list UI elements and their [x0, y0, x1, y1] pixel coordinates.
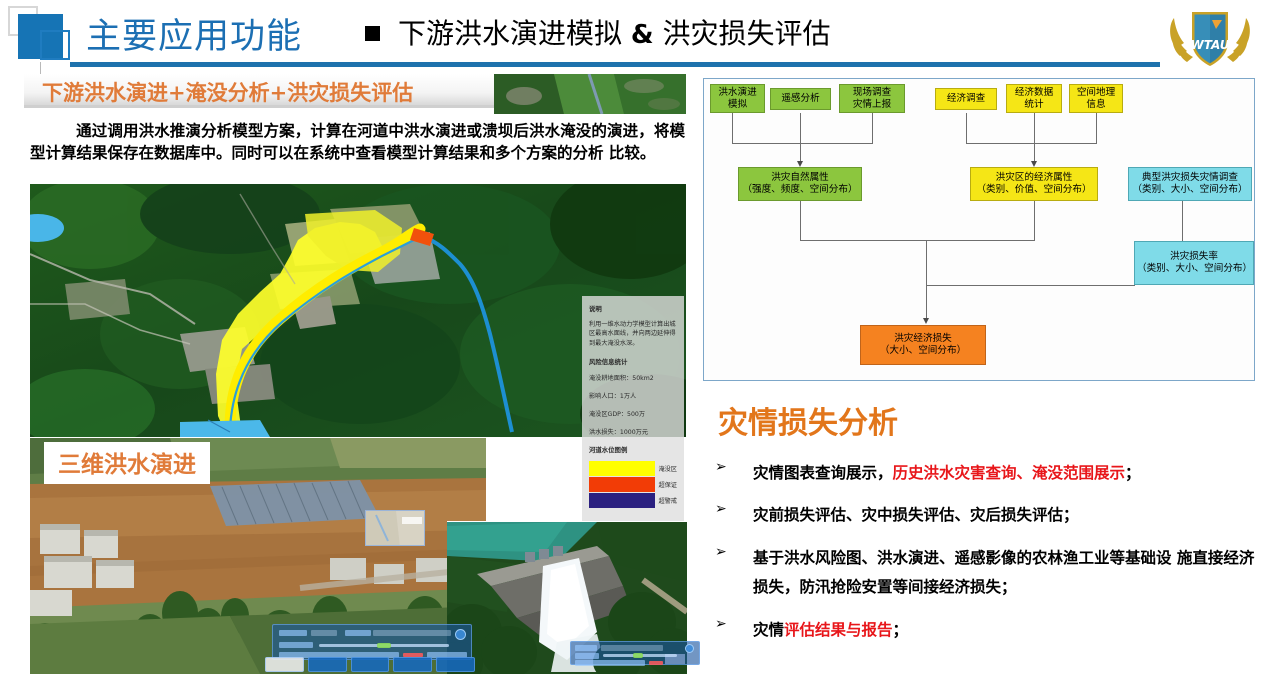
flow-box-r2-2-label: 典型洪灾损失灾情调查（类别、大小、空间分布）	[1132, 172, 1247, 196]
bullet-3-plain: 灾情	[753, 620, 784, 639]
info-stat-2: 淹没区GDP：500万	[589, 409, 677, 418]
bullet-arrow-icon-1: ➢	[715, 500, 753, 529]
flow-box-r1-0-label: 洪水演进模拟	[718, 87, 756, 111]
toolbar-button-3[interactable]	[393, 657, 432, 672]
bullet-0-suffix: ；	[1125, 463, 1141, 482]
bullet-2-plain: 基于洪水风险图、洪水演进、遥感影像的农林渔工业等基础设 施直接经济损失，防汛抢险…	[753, 548, 1254, 596]
connector-v-r1-0	[732, 113, 733, 143]
page-subtitle: 下游洪水演进模拟 & 洪灾损失评估	[398, 12, 831, 52]
secondary-control-panel[interactable]	[570, 641, 700, 665]
intro-paragraph-text: 通过调用洪水推演分析模型方案，计算在河道中洪水演进或溃坝后洪水淹没的演进，将模型…	[30, 121, 685, 162]
connector-v-yellow-drop	[1034, 143, 1035, 163]
bullet-arrow-icon-2: ➢	[715, 543, 753, 602]
connector-v-junction-down	[926, 240, 927, 320]
bullet-1-plain: 灾前损失评估、灾中损失评估、灾后损失评估；	[753, 505, 1079, 524]
wtau-logo: WTAU	[1162, 2, 1258, 72]
legend-item-2: 超警戒	[589, 493, 677, 508]
bullet-arrow-icon-0: ➢	[715, 458, 753, 487]
section-banner-thumbnail	[494, 74, 686, 114]
flow-box-r1-2-label: 现场调查灾情上报	[853, 87, 891, 111]
flow-box-r3-0-label: 洪灾损失率（类别、大小、空间分布）	[1137, 251, 1251, 275]
secondary-field-value[interactable]	[601, 645, 663, 651]
flow-box-r1-1: 遥感分析	[770, 88, 831, 110]
list-item: ➢ 灾情评估结果与报告；	[715, 615, 1255, 644]
control-field-value-2[interactable]	[373, 630, 451, 636]
connector-h-cyan-to-junction	[926, 285, 1135, 286]
bullet-0-plain: 灾情图表查询展示，	[753, 463, 893, 482]
arrow-to-final	[923, 318, 929, 324]
timeline-slider-thumb[interactable]	[377, 643, 391, 648]
section-title-banner: 下游洪水演进+淹没分析+洪灾损失评估	[24, 74, 494, 108]
bullet-arrow-icon-3: ➢	[715, 615, 753, 644]
legend-swatch-1	[589, 477, 655, 492]
intro-paragraph: 通过调用洪水推演分析模型方案，计算在河道中洪水演进或溃坝后洪水淹没的演进，将模型…	[30, 120, 685, 165]
connector-v-r1-2	[872, 113, 873, 143]
flow-box-r1-2: 现场调查灾情上报	[839, 84, 905, 113]
flow-box-r2-2: 典型洪灾损失灾情调查（类别、大小、空间分布）	[1128, 167, 1252, 201]
bullet-0-highlight: 历史洪水灾害查询、淹没范围展示	[893, 463, 1126, 482]
control-field-value-1[interactable]	[311, 630, 337, 636]
mini-map-overview	[365, 510, 425, 546]
refresh-icon-button[interactable]	[455, 629, 466, 640]
flood-3d-label: 三维洪水演进	[44, 442, 210, 484]
control-field-label-1	[279, 630, 307, 636]
secondary-slider-thumb[interactable]	[633, 653, 643, 658]
legend-swatch-2	[589, 493, 655, 508]
toolbar-button-2[interactable]	[351, 657, 390, 672]
secondary-status-alert	[649, 661, 663, 665]
bullet-3-suffix: ；	[893, 620, 909, 639]
info-stat-3: 洪水损失：1000万元	[589, 427, 677, 436]
list-item: ➢ 灾情图表查询展示，历史洪水灾害查询、淹没范围展示；	[715, 458, 1255, 487]
page-subtitle-part1: 下游洪水演进模拟	[398, 17, 622, 50]
toolbar-button-1[interactable]	[308, 657, 347, 672]
bullet-text-3: 灾情评估结果与报告；	[753, 615, 908, 644]
info-stat-1: 影响人口：1万人	[589, 391, 677, 400]
secondary-playback-buttons[interactable]	[575, 653, 599, 659]
page-header: 主要应用功能 下游洪水演进模拟 & 洪灾损失评估 WTAU	[0, 0, 1268, 72]
legend-item-0: 淹没区	[589, 461, 677, 476]
page-title: 主要应用功能	[86, 8, 302, 59]
info-panel-stats-heading: 风险信息统计	[589, 357, 677, 366]
info-panel-body: 利用一维水动力学模型计算出城区最高水面线，并向两边延伸得到最大淹没水深。	[589, 320, 677, 348]
flow-box-r2-0-label: 洪灾自然属性（强度、频度、空间分布）	[742, 172, 857, 196]
flow-box-r1-3-label: 经济调查	[947, 93, 985, 105]
flow-box-r2-1: 洪灾区的经济属性（类别、价值、空间分布）	[970, 167, 1098, 201]
playback-buttons[interactable]	[279, 642, 313, 648]
connector-h-green	[732, 143, 873, 144]
scene-toolbar[interactable]	[265, 656, 475, 673]
legend-label-2: 超警戒	[658, 496, 677, 505]
header-rule	[70, 62, 1160, 67]
flow-box-r1-4: 经济数据统计	[1006, 84, 1062, 113]
info-panel-legend-heading: 河道水位图例	[589, 445, 677, 454]
connector-v-r2-yellow	[1034, 201, 1035, 240]
flow-box-r1-5-label: 空间地理信息	[1077, 87, 1115, 111]
connector-v-cyan-top	[1182, 201, 1183, 241]
flow-box-r1-5: 空间地理信息	[1069, 84, 1123, 113]
toolbar-button-4[interactable]	[436, 657, 475, 672]
flow-box-r1-1-label: 遥感分析	[781, 93, 819, 105]
flow-box-r1-4-label: 经济数据统计	[1015, 87, 1053, 111]
loss-assessment-flowchart: 洪水演进模拟 遥感分析 现场调查灾情上报 经济调查 经济数据统计 空间地理信息 …	[703, 78, 1255, 381]
control-field-label-2	[345, 630, 371, 636]
page-subtitle-ampersand: &	[631, 20, 654, 50]
flow-box-r1-3: 经济调查	[935, 88, 997, 110]
legend-label-0: 淹没区	[658, 464, 677, 473]
connector-v-r2-green	[800, 201, 801, 240]
bullet-text-1: 灾前损失评估、灾中损失评估、灾后损失评估；	[753, 500, 1079, 529]
connector-v-green-drop	[800, 143, 801, 163]
bullet-text-0: 灾情图表查询展示，历史洪水灾害查询、淹没范围展示；	[753, 458, 1141, 487]
secondary-field-label	[575, 645, 597, 651]
analysis-section-title: 灾情损失分析	[718, 398, 898, 442]
connector-v-r1-5	[1096, 113, 1097, 143]
flow-box-r2-1-label: 洪灾区的经济属性（类别、价值、空间分布）	[976, 172, 1091, 196]
map-info-panel: 说明 利用一维水动力学模型计算出城区最高水面线，并向两边延伸得到最大淹没水深。 …	[582, 296, 684, 538]
section-title-text: 下游洪水演进+淹没分析+洪灾损失评估	[42, 77, 413, 107]
simulation-control-panel[interactable]	[272, 624, 472, 660]
toolbar-button-0[interactable]	[265, 657, 304, 672]
flow-box-r2-0: 洪灾自然属性（强度、频度、空间分布）	[738, 167, 862, 201]
page-subtitle-part2: 洪灾损失评估	[663, 17, 831, 50]
secondary-status-readout	[575, 660, 645, 666]
flow-box-r4-0-label: 洪灾经济损失（大小、空间分布）	[880, 333, 966, 357]
decoration-square-outline-bottom	[40, 30, 70, 60]
logo-text: WTAU	[1191, 38, 1230, 52]
flow-box-r3-0: 洪灾损失率（类别、大小、空间分布）	[1134, 241, 1254, 285]
info-stat-0: 淹没耕地面积：50km2	[589, 373, 677, 382]
analysis-bullet-list: ➢ 灾情图表查询展示，历史洪水灾害查询、淹没范围展示； ➢ 灾前损失评估、灾中损…	[715, 458, 1255, 657]
bullet-text-2: 基于洪水风险图、洪水演进、遥感影像的农林渔工业等基础设 施直接经济损失，防汛抢险…	[753, 543, 1255, 602]
square-bullet-icon	[365, 26, 380, 41]
list-item: ➢ 灾前损失评估、灾中损失评估、灾后损失评估；	[715, 500, 1255, 529]
flow-box-r4-0: 洪灾经济损失（大小、空间分布）	[860, 325, 986, 365]
secondary-refresh-icon[interactable]	[685, 644, 694, 653]
connector-v-r1-4	[1034, 113, 1035, 143]
connector-h-yellow	[966, 143, 1097, 144]
connector-v-r1-3	[966, 113, 967, 143]
legend-swatch-0	[589, 461, 655, 476]
info-panel-heading: 说明	[589, 304, 677, 313]
connector-v-r1-1	[800, 113, 801, 143]
legend-item-1: 超保证	[589, 477, 677, 492]
connector-h-junction	[800, 240, 1035, 241]
list-item: ➢ 基于洪水风险图、洪水演进、遥感影像的农林渔工业等基础设 施直接经济损失，防汛…	[715, 543, 1255, 602]
flow-box-r1-0: 洪水演进模拟	[710, 84, 765, 113]
bullet-3-highlight: 评估结果与报告	[784, 620, 893, 639]
legend-label-1: 超保证	[658, 480, 677, 489]
